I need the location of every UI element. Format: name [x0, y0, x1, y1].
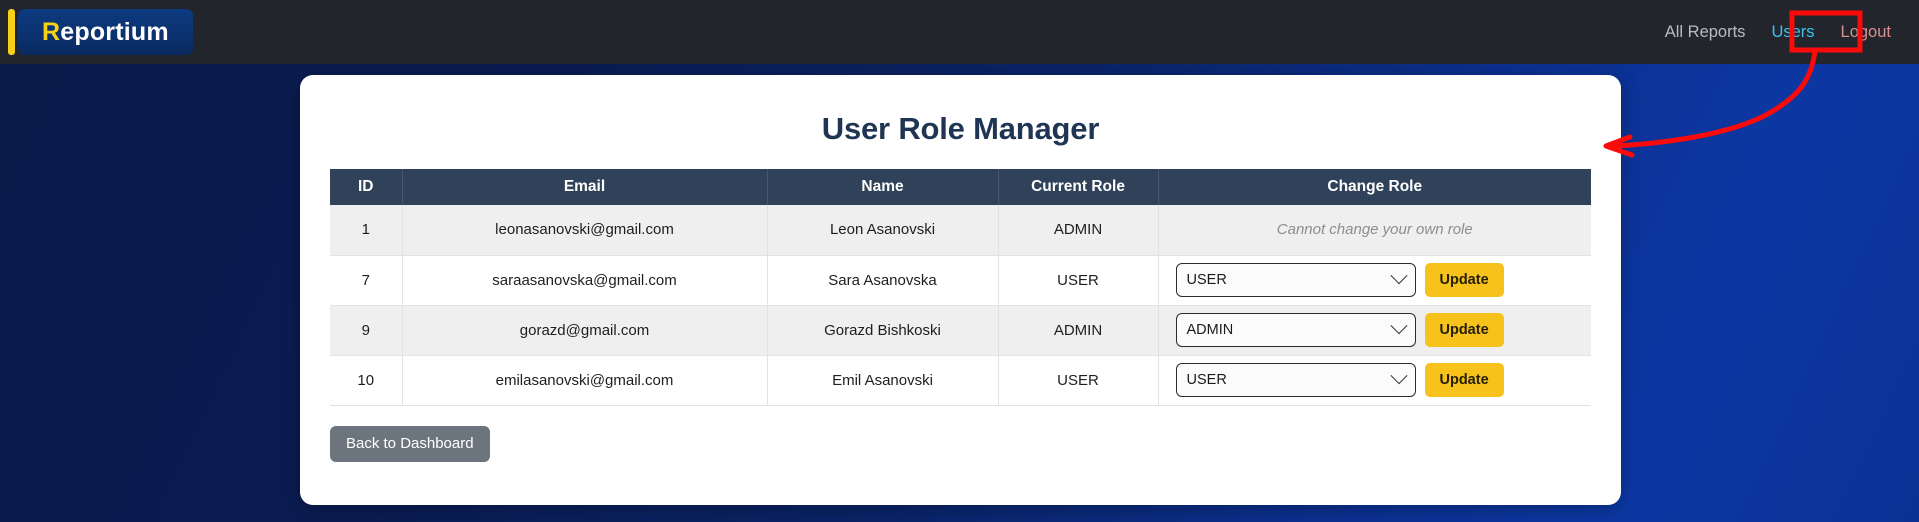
role-editor: USER Update [1167, 263, 1584, 297]
cell-id: 9 [330, 305, 402, 355]
table-row: 7 saraasanovska@gmail.com Sara Asanovska… [330, 255, 1591, 305]
brand-text: Reportium [42, 18, 169, 47]
cell-change-role: USER Update [1158, 255, 1591, 305]
brand-badge: Reportium [18, 9, 193, 55]
cell-id: 10 [330, 355, 402, 405]
role-select-value: USER [1187, 372, 1393, 388]
cell-change-role: ADMIN Update [1158, 305, 1591, 355]
role-select[interactable]: USER [1176, 263, 1416, 297]
cell-name: Gorazd Bishkoski [767, 305, 998, 355]
column-header-change-role: Change Role [1158, 169, 1591, 205]
user-role-card: User Role Manager ID Email Name Current … [300, 75, 1621, 505]
brand-text-highlight: R [42, 18, 60, 46]
column-header-current-role: Current Role [998, 169, 1158, 205]
update-button[interactable]: Update [1425, 263, 1504, 297]
table-row: 10 emilasanovski@gmail.com Emil Asanovsk… [330, 355, 1591, 405]
cell-email: emilasanovski@gmail.com [402, 355, 767, 405]
table-head: ID Email Name Current Role Change Role [330, 169, 1591, 205]
column-header-id: ID [330, 169, 402, 205]
cell-name: Emil Asanovski [767, 355, 998, 405]
cell-email: gorazd@gmail.com [402, 305, 767, 355]
cell-name: Leon Asanovski [767, 205, 998, 255]
role-select[interactable]: ADMIN [1176, 313, 1416, 347]
column-header-name: Name [767, 169, 998, 205]
cell-email: leonasanovski@gmail.com [402, 205, 767, 255]
cell-current-role: ADMIN [998, 205, 1158, 255]
brand-accent-bar [8, 9, 15, 55]
nav-links: All Reports Users Logout [1665, 23, 1891, 42]
cell-name: Sara Asanovska [767, 255, 998, 305]
annotation-arrow-line [1612, 50, 1815, 146]
table-header-row: ID Email Name Current Role Change Role [330, 169, 1591, 205]
back-to-dashboard-button[interactable]: Back to Dashboard [330, 426, 490, 462]
top-navbar: Reportium All Reports Users Logout [0, 0, 1919, 64]
page-title: User Role Manager [330, 111, 1591, 147]
cell-current-role: ADMIN [998, 305, 1158, 355]
user-roles-table: ID Email Name Current Role Change Role 1… [330, 169, 1591, 406]
table-row: 1 leonasanovski@gmail.com Leon Asanovski… [330, 205, 1591, 255]
cell-current-role: USER [998, 355, 1158, 405]
chevron-down-icon [1390, 267, 1407, 284]
chevron-down-icon [1390, 317, 1407, 334]
role-editor: USER Update [1167, 363, 1584, 397]
cell-id: 7 [330, 255, 402, 305]
own-role-note: Cannot change your own role [1277, 221, 1473, 238]
role-select-value: ADMIN [1187, 322, 1393, 338]
table-row: 9 gorazd@gmail.com Gorazd Bishkoski ADMI… [330, 305, 1591, 355]
update-button[interactable]: Update [1425, 313, 1504, 347]
cell-email: saraasanovska@gmail.com [402, 255, 767, 305]
chevron-down-icon [1390, 367, 1407, 384]
brand-text-rest: eportium [60, 18, 169, 46]
brand-logo[interactable]: Reportium [8, 9, 193, 55]
role-editor: ADMIN Update [1167, 313, 1584, 347]
nav-link-users[interactable]: Users [1771, 23, 1814, 42]
cell-current-role: USER [998, 255, 1158, 305]
role-select-value: USER [1187, 272, 1393, 288]
nav-link-logout[interactable]: Logout [1841, 23, 1891, 42]
role-select[interactable]: USER [1176, 363, 1416, 397]
cell-change-role: Cannot change your own role [1158, 205, 1591, 255]
table-body: 1 leonasanovski@gmail.com Leon Asanovski… [330, 205, 1591, 405]
cell-change-role: USER Update [1158, 355, 1591, 405]
column-header-email: Email [402, 169, 767, 205]
cell-id: 1 [330, 205, 402, 255]
update-button[interactable]: Update [1425, 363, 1504, 397]
nav-link-all-reports[interactable]: All Reports [1665, 23, 1746, 42]
